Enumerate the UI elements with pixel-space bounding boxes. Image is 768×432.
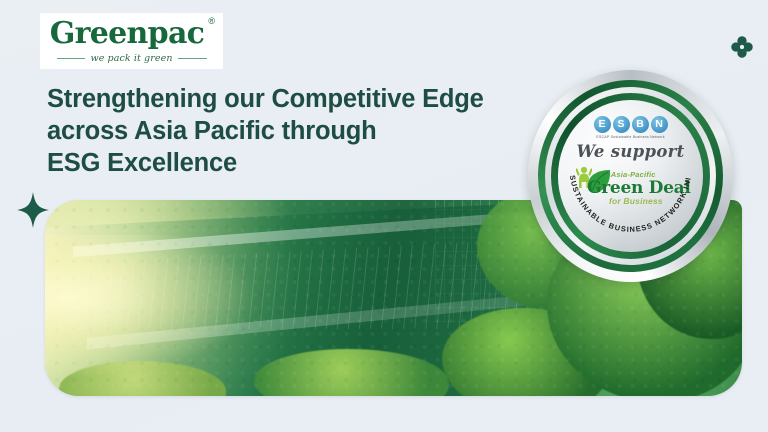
logo-tagline-row: we pack it green	[57, 53, 207, 64]
esbn-badge: E S B N ESCAP Sustainable Business Netwo…	[528, 70, 733, 282]
badge-arc-text: ESCAP SUSTAINABLE BUSINESS NETWORK INITI…	[558, 100, 703, 252]
greenpac-logo: Greenpac ® we pack it green	[40, 13, 223, 69]
logo-tagline: we pack it green	[90, 53, 172, 64]
page-title-line-1: Strengthening our Competitive Edge	[47, 83, 527, 115]
page-title-line-2: across Asia Pacific through	[47, 115, 527, 147]
page-title-line-3: ESG Excellence	[47, 147, 527, 179]
logo-wordmark: Greenpac ®	[50, 19, 214, 49]
logo-rule-left	[57, 58, 86, 59]
quatrefoil-icon	[731, 36, 753, 58]
page-title: Strengthening our Competitive Edge acros…	[47, 83, 527, 179]
badge-face: E S B N ESCAP Sustainable Business Netwo…	[558, 100, 703, 252]
registered-trademark-icon: ®	[208, 17, 214, 26]
slide-canvas: Greenpac ® we pack it green Strengthenin…	[0, 0, 768, 432]
logo-wordmark-text: Greenpac	[50, 16, 205, 51]
logo-rule-right	[178, 58, 207, 59]
badge-arc-text-label: ESCAP SUSTAINABLE BUSINESS NETWORK INITI…	[558, 100, 693, 234]
